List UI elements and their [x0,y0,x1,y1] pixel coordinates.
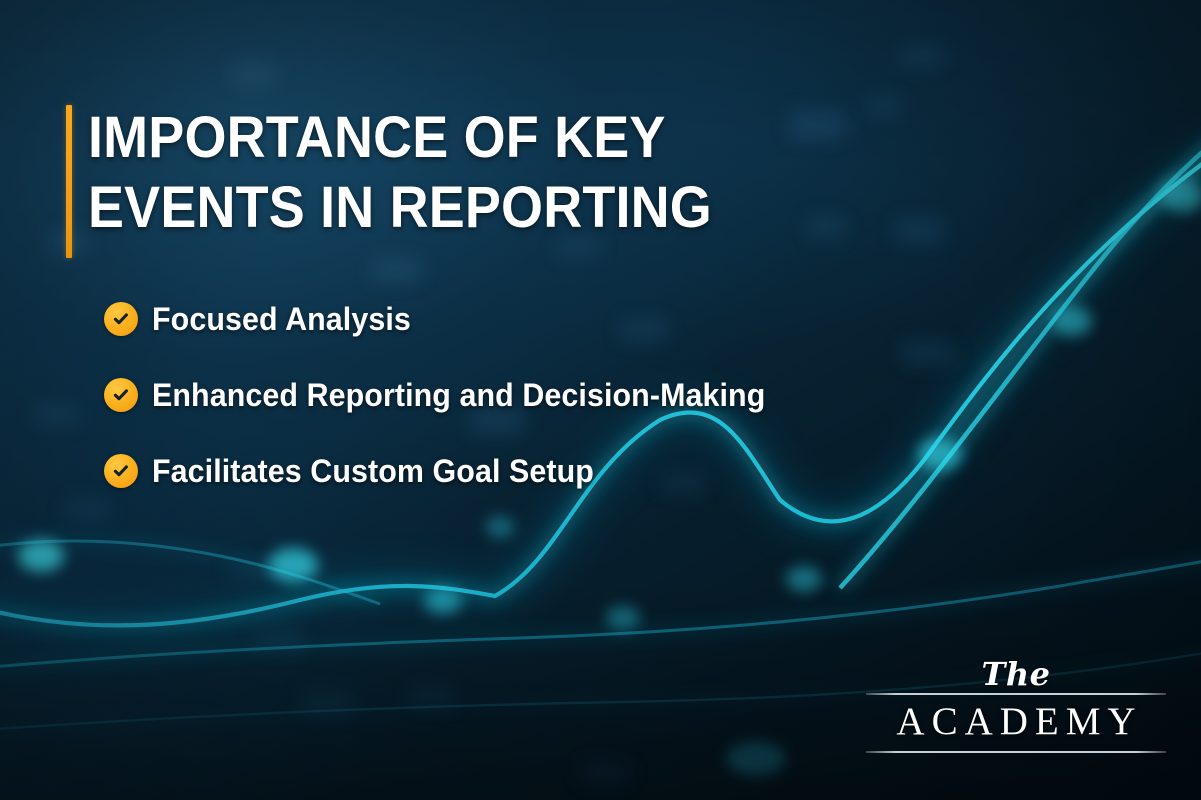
logo-rule-bottom [866,751,1166,753]
title-accent-bar [66,105,72,258]
logo-name: ACADEMY [866,695,1166,751]
brand-logo: The ACADEMY [866,655,1166,753]
list-item: Enhanced Reporting and Decision-Making [104,376,1084,414]
check-circle-icon [104,302,138,336]
list-item: Facilitates Custom Goal Setup [104,452,1084,490]
benefits-list: Focused Analysis Enhanced Reporting and … [104,300,1084,490]
list-item-label: Enhanced Reporting and Decision-Making [152,376,765,414]
list-item-label: Facilitates Custom Goal Setup [152,452,594,490]
check-circle-icon [104,454,138,488]
slide-content: IMPORTANCE OF KEY EVENTS IN REPORTING Fo… [0,0,1201,800]
logo-script-word: The [866,655,1166,693]
check-circle-icon [104,378,138,412]
list-item: Focused Analysis [104,300,1084,338]
page-title: IMPORTANCE OF KEY EVENTS IN REPORTING [88,103,739,243]
list-item-label: Focused Analysis [152,300,411,338]
slide-canvas: IMPORTANCE OF KEY EVENTS IN REPORTING Fo… [0,0,1201,800]
